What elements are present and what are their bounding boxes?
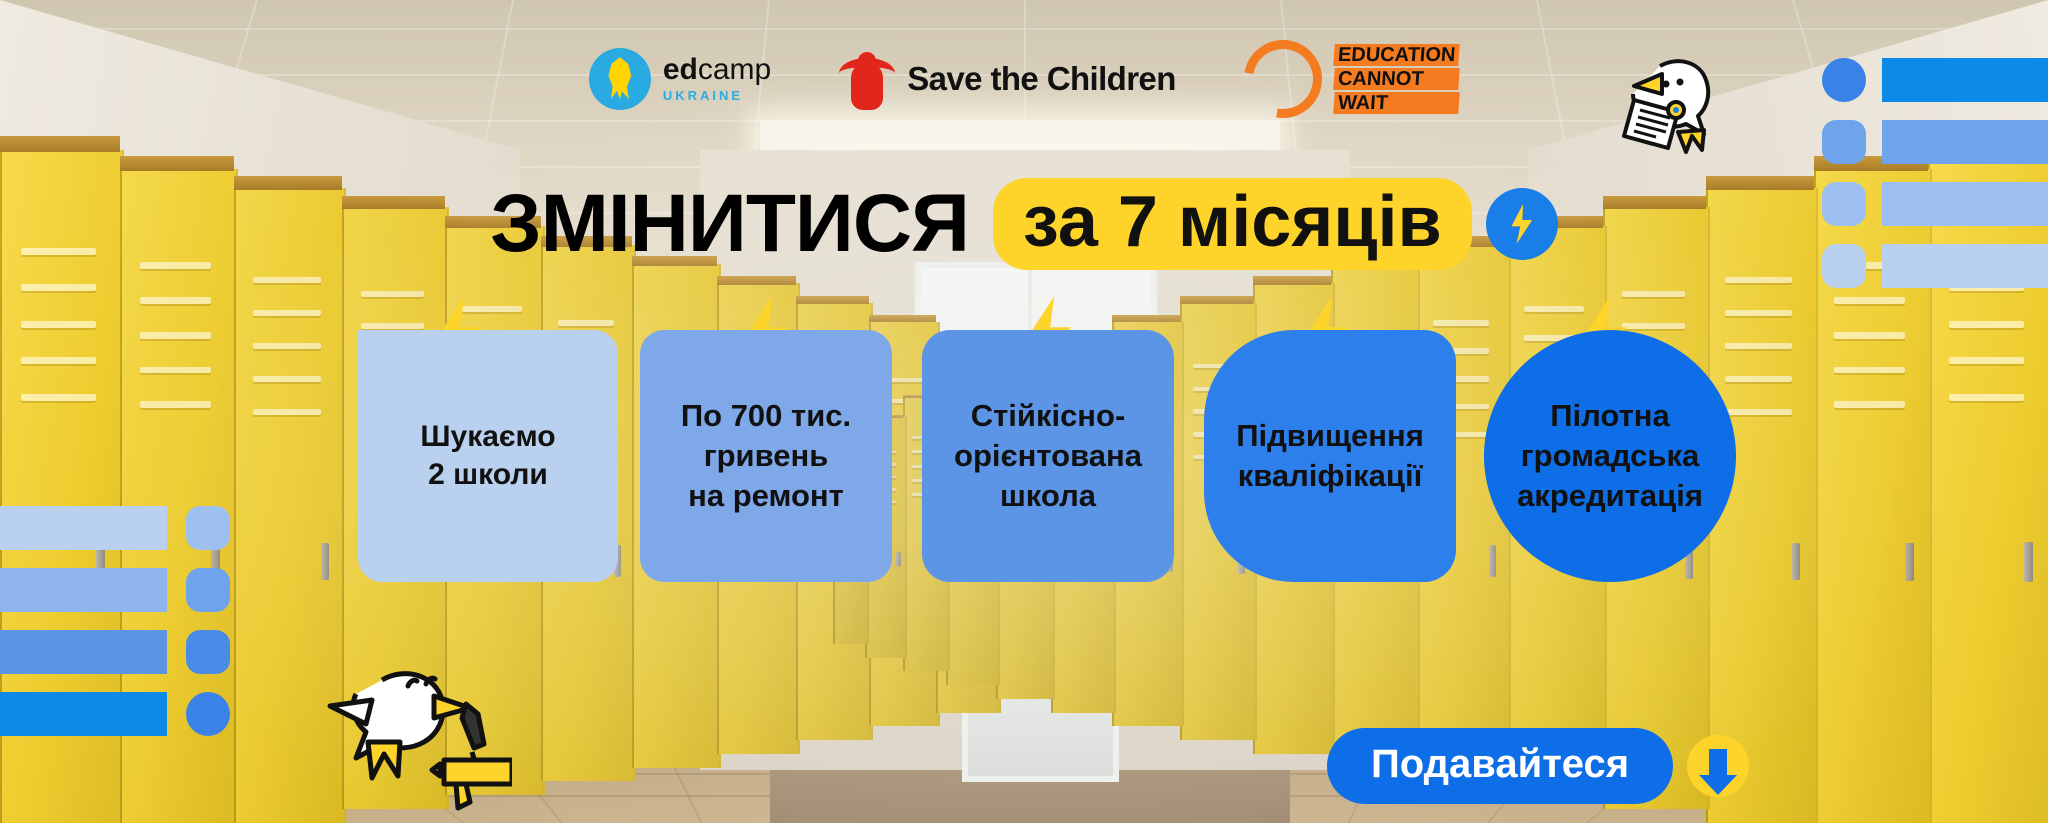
ecw-line-3: WAIT bbox=[1333, 92, 1460, 114]
feature-card-3[interactable]: Стійкісно-орієнтованашкола bbox=[922, 330, 1174, 582]
headline: ЗМІНИТИСЯ за 7 місяців bbox=[0, 178, 2048, 270]
cta-group: Подавайтеся bbox=[1327, 728, 1749, 804]
feature-card-1-line-2: 2 школи bbox=[420, 456, 555, 494]
arrow-down-icon[interactable] bbox=[1687, 735, 1749, 797]
edcamp-subtitle: UKRAINE bbox=[663, 88, 771, 103]
decor-left-bar-3 bbox=[0, 630, 167, 674]
feature-card-2-line-2: гривень bbox=[681, 436, 851, 476]
feature-card-5-line-3: акредитація bbox=[1517, 476, 1703, 516]
ecw-line-1: EDUCATION bbox=[1333, 44, 1460, 66]
edcamp-word-bold: ed bbox=[663, 53, 698, 86]
feature-card-3-line-3: школа bbox=[954, 476, 1142, 516]
feature-card-1-line-1: Шукаємо bbox=[420, 418, 555, 456]
apply-button[interactable]: Подавайтеся bbox=[1327, 728, 1673, 804]
decor-left-marker-4 bbox=[186, 692, 230, 736]
feature-card-4-line-2: кваліфікації bbox=[1236, 456, 1424, 496]
partner-logos: edcamp UKRAINE Save the Children EDUCATI… bbox=[0, 36, 2048, 122]
feature-card-2-line-3: на ремонт bbox=[681, 476, 851, 516]
feature-card-5-line-2: громадська bbox=[1517, 436, 1703, 476]
lightning-bolt-icon bbox=[1486, 188, 1558, 260]
feature-card-5-line-1: Пілотна bbox=[1517, 396, 1703, 436]
decor-left-marker-3 bbox=[186, 630, 230, 674]
bird-with-paint-roller-icon bbox=[322, 660, 512, 818]
ecw-wordmark: EDUCATION CANNOT WAIT bbox=[1334, 44, 1459, 114]
feature-card-1[interactable]: Шукаємо2 школи bbox=[358, 330, 618, 582]
headline-highlight: за 7 місяців bbox=[993, 178, 1472, 270]
feature-card-2[interactable]: По 700 тис.гривеньна ремонт bbox=[640, 330, 892, 582]
decor-right-bar-2 bbox=[1882, 120, 2048, 164]
edcamp-flame-icon bbox=[589, 48, 651, 110]
logo-edcamp-ukraine: edcamp UKRAINE bbox=[589, 48, 771, 110]
headline-main: ЗМІНИТИСЯ bbox=[490, 183, 969, 265]
feature-card-5[interactable]: Пілотнагромадськаакредитація bbox=[1484, 330, 1736, 582]
promo-banner: edcamp UKRAINE Save the Children EDUCATI… bbox=[0, 0, 2048, 823]
feature-cards: Шукаємо2 школиПо 700 тис.гривеньна ремон… bbox=[0, 330, 2048, 600]
decor-right-marker-2 bbox=[1822, 120, 1866, 164]
logo-education-cannot-wait: EDUCATION CANNOT WAIT bbox=[1244, 40, 1459, 118]
feature-card-3-line-1: Стійкісно- bbox=[954, 396, 1142, 436]
decor-left-bar-4 bbox=[0, 692, 167, 736]
feature-card-2-line-1: По 700 тис. bbox=[681, 396, 851, 436]
save-the-children-wordmark: Save the Children bbox=[907, 60, 1176, 98]
ecw-broken-ring-icon bbox=[1228, 25, 1337, 134]
bird-with-certificate-icon bbox=[1600, 44, 1730, 156]
edcamp-word-thin: camp bbox=[698, 53, 771, 86]
feature-card-4-line-1: Підвищення bbox=[1236, 416, 1424, 456]
save-the-children-child-icon bbox=[839, 48, 895, 110]
edcamp-wordmark: edcamp bbox=[663, 53, 771, 86]
ecw-line-2: CANNOT bbox=[1333, 68, 1460, 90]
logo-save-the-children: Save the Children bbox=[839, 48, 1176, 110]
feature-card-3-line-2: орієнтована bbox=[954, 436, 1142, 476]
feature-card-4[interactable]: Підвищеннякваліфікації bbox=[1204, 330, 1456, 582]
